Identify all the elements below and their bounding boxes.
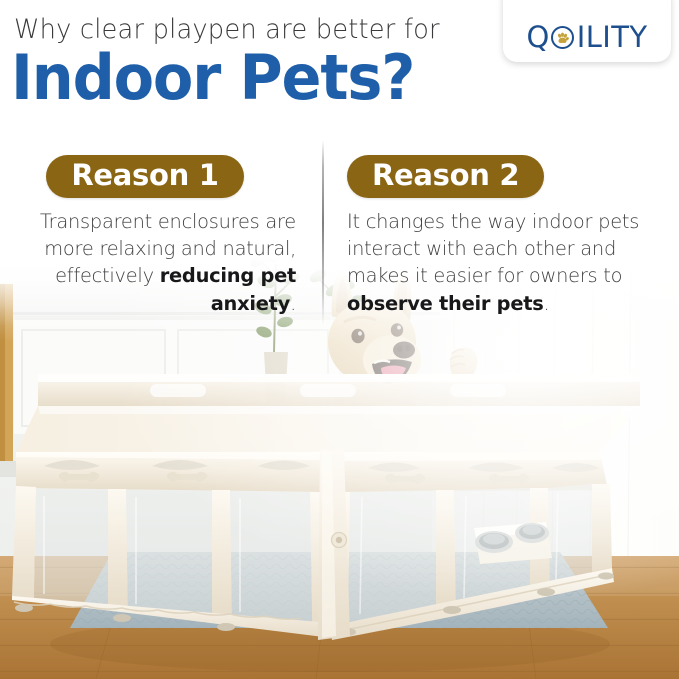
reason-2-line-3: owners to [529,264,622,287]
infographic-page: Why clear playpen are better for Indoor … [0,0,679,679]
logo-text-before: Q [527,23,550,52]
product-photo-illustration [0,256,679,679]
reason-2-period: . [544,292,550,315]
reason-2-highlight: observe their pets [347,292,544,315]
reason-1-highlight: reducing pet anxiety [160,264,296,314]
brand-logo: Q ILITY [503,0,671,62]
reason-2-text: It changes the way indoor pets interact … [341,208,679,317]
logo-text-after: ILITY [577,23,648,52]
product-photo [0,256,679,679]
reason-2-badge-row: Reason 2 [341,155,679,198]
reason-1-text: Transparent enclosures are more relaxing… [0,208,312,317]
logo-wordmark: Q ILITY [527,23,648,52]
logo-o-letter [550,23,577,52]
reason-1-column: Reason 1 Transparent enclosures are more… [0,155,312,317]
page-title: Indoor Pets? [11,46,414,109]
reason-1-badge-row: Reason 1 [0,155,312,198]
reason-1-badge: Reason 1 [46,155,243,198]
reason-2-column: Reason 2 It changes the way indoor pets … [341,155,679,317]
column-divider [322,140,324,325]
paw-print-icon [555,31,570,46]
reason-1-period: . [290,292,296,315]
reason-2-badge: Reason 2 [347,155,544,198]
